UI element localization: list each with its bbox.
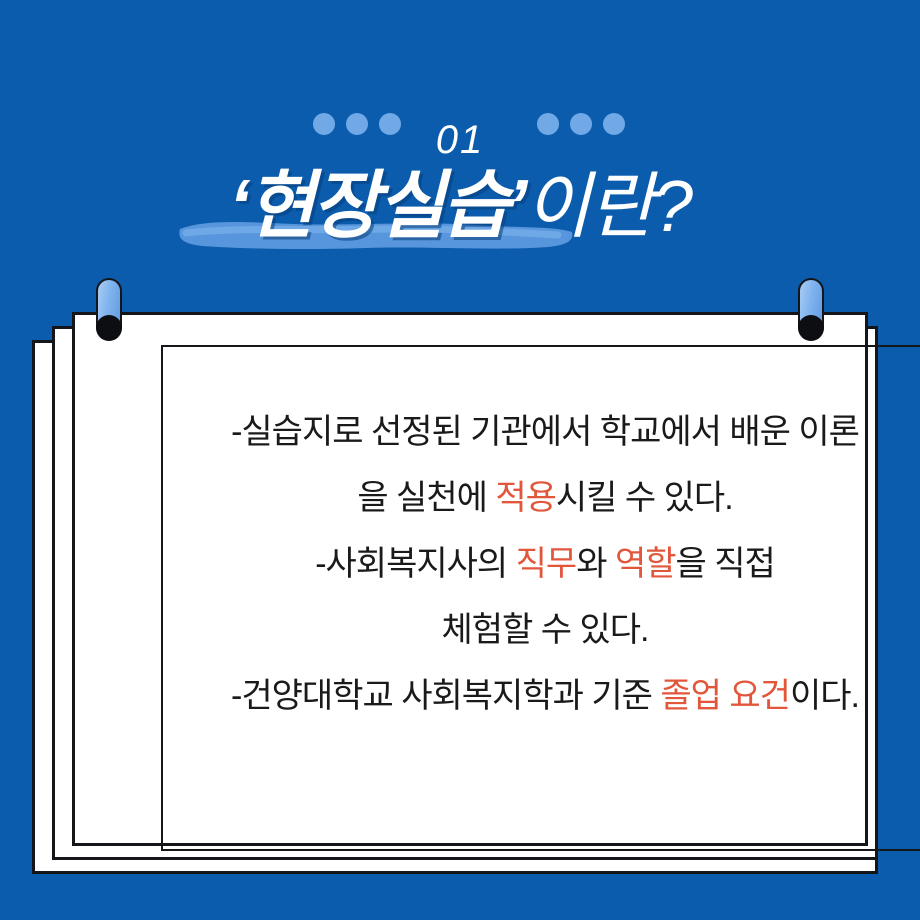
body-segment-highlight: 역할 [615, 545, 676, 583]
body-segment: -건양대학교 사회복지학과 기준 [231, 677, 660, 715]
pin-icon-right [798, 278, 824, 340]
body-line: 체험할 수 있다. [161, 597, 920, 663]
issue-number: 01 [0, 120, 920, 160]
page-title: ‘현장실습’이란? [0, 158, 920, 268]
body-copy: -실습지로 선정된 기관에서 학교에서 배운 이론 을 실천에 적용시킬 수 있… [161, 399, 920, 729]
body-segment: 와 [576, 545, 615, 583]
title-light-text: 이란? [524, 167, 691, 247]
body-segment: 이다. [790, 677, 859, 715]
body-line: 을 실천에 적용시킬 수 있다. [161, 465, 920, 531]
title-line: ‘현장실습’이란? [0, 158, 920, 275]
body-segment: 시킬 수 있다. [556, 479, 733, 517]
body-segment-highlight: 졸업 요건 [660, 677, 790, 715]
body-segment: 을 실천에 [357, 479, 495, 517]
body-segment: -실습지로 선정된 기관에서 학교에서 배운 이론 [231, 413, 859, 451]
body-segment: -사회복지사의 [315, 545, 515, 583]
dot-icon [570, 113, 592, 135]
pin-head [96, 315, 122, 341]
body-segment-highlight: 적용 [495, 479, 556, 517]
decor-dots-right [537, 113, 625, 135]
card-header: 01 ‘현장실습’이란? [0, 0, 920, 290]
body-line: -사회복지사의 직무와 역할을 직접 [161, 531, 920, 597]
body-segment-highlight: 직무 [516, 545, 577, 583]
info-card: 01 ‘현장실습’이란? -실습지로 선 [0, 0, 920, 920]
body-line: -실습지로 선정된 기관에서 학교에서 배운 이론 [161, 399, 920, 465]
body-segment: 체험할 수 있다. [441, 611, 648, 649]
dot-icon [537, 113, 559, 135]
dot-icon [603, 113, 625, 135]
body-segment: 을 직접 [676, 545, 775, 583]
title-strong-text: ‘현장실습’ [229, 164, 524, 247]
pin-head [798, 315, 824, 341]
paper-sheet-front: -실습지로 선정된 기관에서 학교에서 배운 이론 을 실천에 적용시킬 수 있… [72, 312, 868, 846]
paper-stack: -실습지로 선정된 기관에서 학교에서 배운 이론 을 실천에 적용시킬 수 있… [0, 296, 920, 896]
body-line: -건양대학교 사회복지학과 기준 졸업 요건이다. [161, 663, 920, 729]
pin-icon-left [96, 278, 122, 340]
